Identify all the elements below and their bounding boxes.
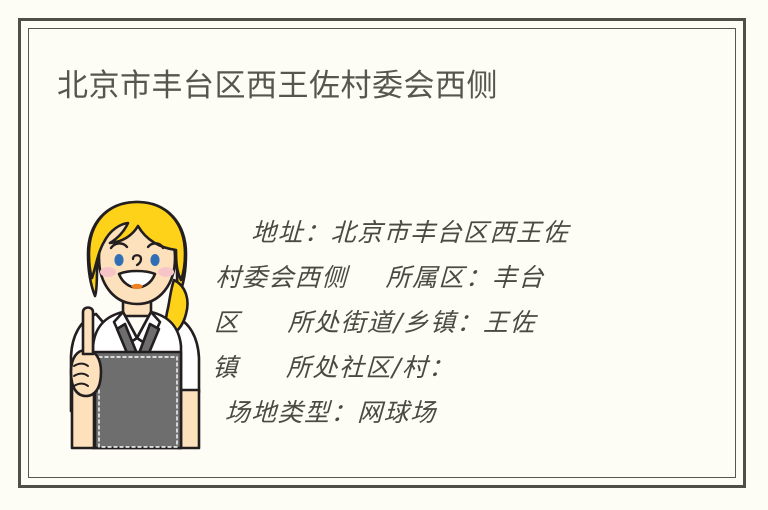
right-cheek	[158, 267, 174, 277]
venue-info-block: 地址：北京市丰台区西王佐 村委会西侧 所属区：丰台 区 所处街道/乡镇：王佐 镇…	[210, 210, 648, 435]
right-eye	[150, 254, 159, 266]
apron	[95, 352, 181, 448]
left-fist	[71, 350, 101, 396]
info-card: 北京市丰台区西王佐村委会西侧	[0, 0, 768, 510]
left-cheek	[100, 267, 116, 277]
info-line-community: 镇 所处社区/村：	[212, 345, 644, 390]
info-line-street: 区 所处街道/乡镇：王佐	[213, 300, 645, 345]
page-title: 北京市丰台区西王佐村委会西侧	[57, 66, 498, 106]
info-line-venue-type: 场地类型：网球场	[210, 390, 642, 435]
left-eye	[114, 254, 123, 266]
info-line-district: 村委会西侧 所属区：丰台	[215, 255, 647, 300]
info-line-address: 地址：北京市丰台区西王佐	[216, 210, 648, 255]
index-finger	[83, 308, 93, 355]
mascot-illustration	[62, 196, 212, 452]
